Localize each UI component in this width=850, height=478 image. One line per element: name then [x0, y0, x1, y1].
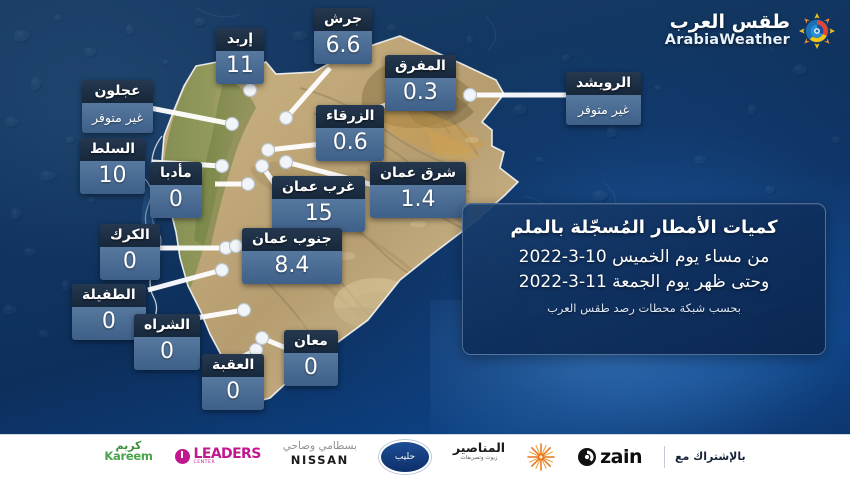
station-name: المفرق	[385, 55, 456, 78]
sponsor-leaders-logo[interactable]: LEADERS CENTER	[175, 440, 261, 474]
station-label-west-amman[interactable]: غرب عمان 15	[272, 176, 365, 232]
station-name: جنوب عمان	[242, 228, 342, 251]
station-label-east-amman[interactable]: شرق عمان 1.4	[370, 162, 466, 218]
zain-name: zain	[600, 446, 642, 468]
station-value: 0.3	[385, 78, 456, 111]
station-label-zarqa[interactable]: الزرقاء 0.6	[316, 105, 384, 161]
sun-spiral-icon	[798, 12, 836, 50]
station-name: العقبة	[202, 354, 264, 377]
station-value: 10	[80, 161, 145, 194]
station-value: 0	[202, 377, 264, 410]
station-value: 0	[284, 353, 338, 386]
station-name: الرويشد	[566, 72, 641, 95]
station-label-ajloun[interactable]: عجلون غير متوفر	[82, 80, 153, 133]
nissan-english: NISSAN	[291, 453, 349, 467]
divider	[664, 446, 665, 468]
infographic-stage: طقس العرب ArabiaWeather	[0, 0, 850, 478]
station-label-mafraq[interactable]: المفرق 0.3	[385, 55, 456, 111]
sponsor-zain-logo[interactable]: zain	[577, 440, 642, 474]
brand-name-english: ArabiaWeather	[665, 33, 790, 48]
station-name: إربد	[216, 28, 264, 51]
brand-logo: طقس العرب ArabiaWeather	[665, 12, 836, 50]
manaseer-sub: زيوت وتصريفات	[460, 455, 497, 462]
manaseer-arabic: المناصير	[453, 440, 505, 455]
station-label-ruwaished[interactable]: الرويشد غير متوفر	[566, 72, 641, 125]
info-panel: كميات الأمطار المُسجّلة بالملم من مساء ي…	[462, 203, 826, 355]
panel-period-start: من مساء يوم الخميس 10-3-2022	[463, 247, 825, 267]
station-label-karak[interactable]: الكرك 0	[100, 224, 160, 280]
nissan-dealer-arabic: بسطامي وصاحي	[283, 440, 357, 453]
station-value: 11	[216, 51, 264, 84]
station-name: جرش	[314, 8, 372, 31]
kareem-english: Kareem	[104, 451, 152, 463]
panel-footnote: بحسب شبكة محطات رصد طقس العرب	[463, 301, 825, 315]
sponsor-bar: كريم Kareem LEADERS CENTER بسطامي وصاحي …	[0, 434, 850, 478]
brand-name-arabic: طقس العرب	[665, 13, 790, 33]
sponsor-dairy-logo[interactable]: حليب	[379, 440, 431, 474]
station-value: غير متوفر	[566, 95, 641, 125]
station-value: 0	[150, 185, 202, 218]
partner-note-group: بالإشتراك مع	[664, 440, 746, 474]
leaders-power-icon	[175, 449, 190, 464]
station-name: شرق عمان	[370, 162, 466, 185]
station-name: الشراه	[134, 314, 200, 337]
sponsor-manaseer-logo[interactable]: المناصير زيوت وتصريفات	[453, 440, 505, 474]
leaders-sub: CENTER	[194, 461, 261, 466]
station-value: غير متوفر	[82, 103, 153, 133]
station-name: عجلون	[82, 80, 153, 103]
station-name: غرب عمان	[272, 176, 365, 199]
station-value: 0	[134, 337, 200, 370]
sponsor-nissan-logo[interactable]: بسطامي وصاحي NISSAN	[283, 440, 357, 474]
station-label-jerash[interactable]: جرش 6.6	[314, 8, 372, 64]
sunburst-icon	[527, 443, 555, 471]
station-name: معان	[284, 330, 338, 353]
panel-title: كميات الأمطار المُسجّلة بالملم	[463, 217, 825, 238]
sponsor-sunburst-logo[interactable]	[527, 440, 555, 474]
station-label-maan[interactable]: معان 0	[284, 330, 338, 386]
station-label-salt[interactable]: السلط 10	[80, 138, 145, 194]
station-value: 0.6	[316, 128, 384, 161]
station-label-aqaba[interactable]: العقبة 0	[202, 354, 264, 410]
dairy-arabic: حليب	[395, 452, 415, 462]
station-value: 1.4	[370, 185, 466, 218]
station-value: 0	[100, 247, 160, 280]
partner-note: بالإشتراك مع	[675, 450, 746, 463]
station-label-irbid[interactable]: إربد 11	[216, 28, 264, 84]
station-value: 6.6	[314, 31, 372, 64]
station-name: مأدبا	[150, 162, 202, 185]
station-label-shara[interactable]: الشراه 0	[134, 314, 200, 370]
station-name: الكرك	[100, 224, 160, 247]
panel-period-end: وحتى ظهر يوم الجمعة 11-3-2022	[463, 272, 825, 292]
station-value: 8.4	[242, 251, 342, 284]
station-name: الزرقاء	[316, 105, 384, 128]
station-label-madaba[interactable]: مأدبا 0	[150, 162, 202, 218]
zain-swirl-icon	[577, 447, 597, 467]
station-name: الطفيلة	[72, 284, 146, 307]
station-name: السلط	[80, 138, 145, 161]
sponsor-kareem-logo[interactable]: كريم Kareem	[104, 440, 152, 474]
station-label-south-amman[interactable]: جنوب عمان 8.4	[242, 228, 342, 284]
